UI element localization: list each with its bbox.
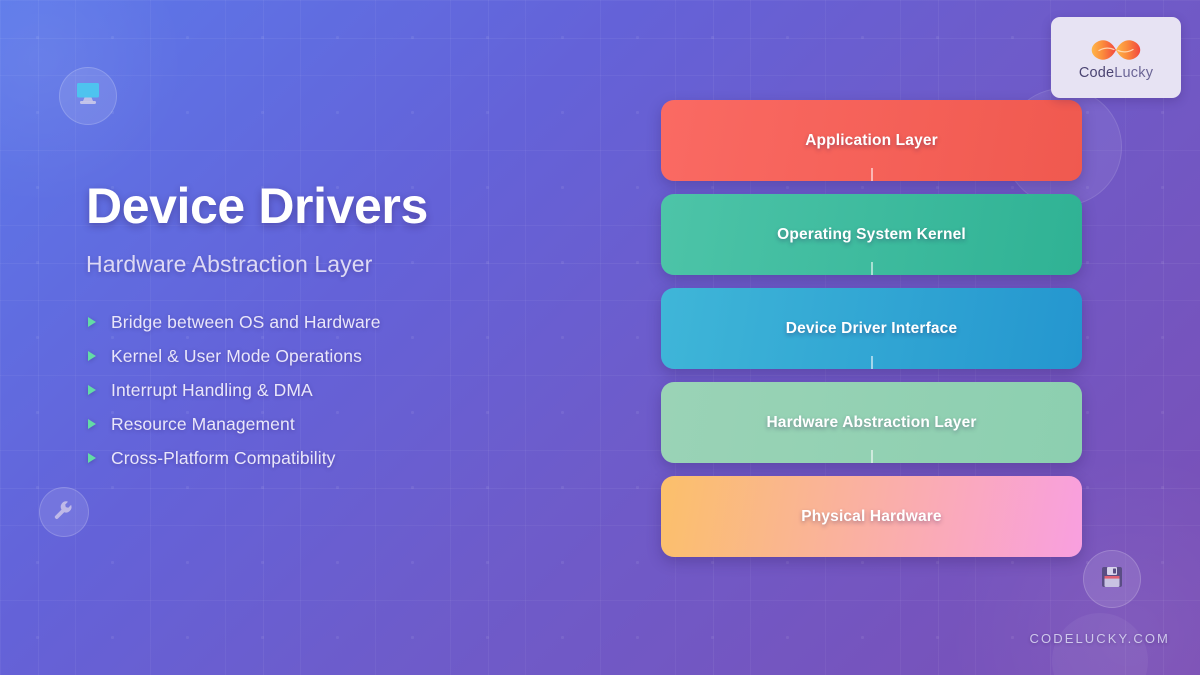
stack-connector [871, 168, 873, 181]
list-item: Cross-Platform Compatibility [86, 441, 556, 475]
triangle-bullet-icon [88, 385, 96, 395]
stack-connector [871, 356, 873, 369]
list-item: Resource Management [86, 407, 556, 441]
list-item-label: Interrupt Handling & DMA [111, 380, 313, 401]
brand-logo-text-lucky: Lucky [1114, 65, 1153, 81]
stack-connector [871, 450, 873, 463]
feature-list: Bridge between OS and Hardware Kernel & … [86, 305, 556, 475]
list-item-label: Bridge between OS and Hardware [111, 312, 381, 333]
list-item-label: Kernel & User Mode Operations [111, 346, 362, 367]
brand-logo-text-code: Code [1079, 65, 1114, 81]
stack-layer: Application Layer [661, 100, 1082, 181]
list-item-label: Resource Management [111, 414, 295, 435]
wrench-icon [52, 498, 76, 527]
stack-layer: Hardware Abstraction Layer [661, 382, 1082, 463]
monitor-icon-bubble [59, 67, 117, 125]
stack-layer: Physical Hardware [661, 476, 1082, 557]
triangle-bullet-icon [88, 453, 96, 463]
triangle-bullet-icon [88, 351, 96, 361]
list-item: Interrupt Handling & DMA [86, 373, 556, 407]
wrench-icon-bubble [39, 487, 89, 537]
architecture-stack-diagram: Application Layer Operating System Kerne… [661, 100, 1082, 570]
list-item: Bridge between OS and Hardware [86, 305, 556, 339]
stack-layer: Device Driver Interface [661, 288, 1082, 369]
floppy-disk-icon-bubble [1083, 550, 1141, 608]
brand-logo-text: CodeLucky [1079, 66, 1153, 81]
slide-canvas: CodeLucky [0, 0, 1200, 675]
list-item: Kernel & User Mode Operations [86, 339, 556, 373]
infinity-leaf-icon [1086, 35, 1146, 65]
footer-website-url: CODELUCKY.COM [1030, 631, 1170, 646]
page-title: Device Drivers [86, 180, 556, 233]
stack-connector [871, 262, 873, 275]
brand-logo-badge[interactable]: CodeLucky [1051, 17, 1181, 98]
monitor-icon [73, 80, 103, 113]
page-subtitle: Hardware Abstraction Layer [86, 251, 556, 278]
floppy-disk-icon [1099, 564, 1125, 595]
triangle-bullet-icon [88, 419, 96, 429]
list-item-label: Cross-Platform Compatibility [111, 448, 336, 469]
triangle-bullet-icon [88, 317, 96, 327]
hero-content: Device Drivers Hardware Abstraction Laye… [86, 180, 556, 475]
stack-layer-box-physical-hardware[interactable]: Physical Hardware [661, 476, 1082, 557]
stack-layer: Operating System Kernel [661, 194, 1082, 275]
